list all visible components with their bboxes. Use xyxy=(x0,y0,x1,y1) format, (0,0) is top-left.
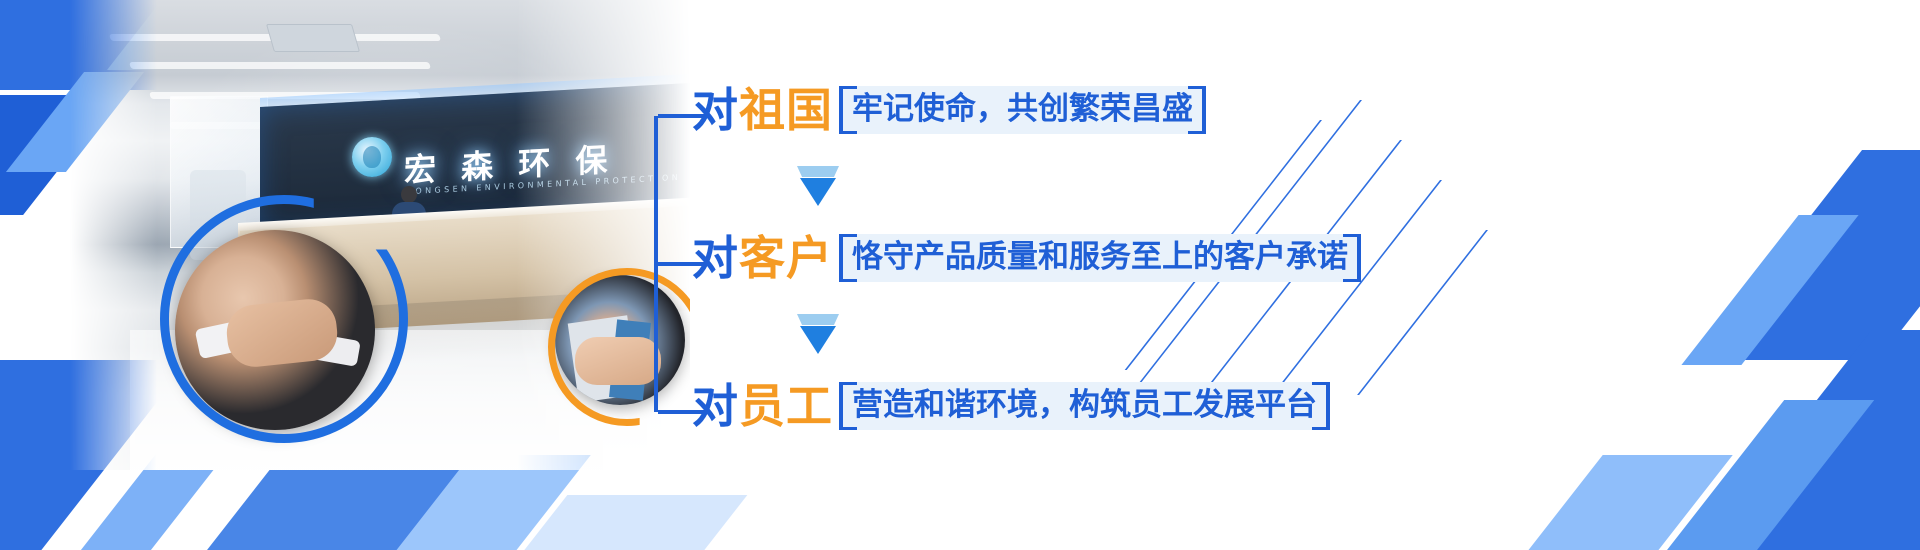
ceiling-vent xyxy=(266,24,360,52)
value-lead-highlight: 员工 xyxy=(739,379,833,433)
value-row-country: 对祖国 牢记使命，共创繁荣昌盛 xyxy=(692,86,1206,134)
value-row-employee: 对员工 营造和谐环境，构筑员工发展平台 xyxy=(692,382,1330,430)
value-lead-employee: 对员工 xyxy=(692,383,833,429)
value-lead-country: 对祖国 xyxy=(692,87,833,133)
value-lead-highlight: 客户 xyxy=(739,231,833,285)
ceiling-strip xyxy=(129,62,431,69)
value-lead-prefix: 对 xyxy=(692,83,739,137)
value-lead-highlight: 祖国 xyxy=(739,83,833,137)
photo-montage: 宏 森 环 保 HONGSEN ENVIRONMENTAL PROTECTION xyxy=(70,0,690,550)
value-row-customer: 对客户 恪守产品质量和服务至上的客户承诺 xyxy=(692,234,1361,282)
value-tag-employee: 营造和谐环境，构筑员工发展平台 xyxy=(839,382,1330,430)
company-logo-icon xyxy=(352,137,392,177)
company-values-banner: 宏 森 环 保 HONGSEN ENVIRONMENTAL PROTECTION xyxy=(0,0,1920,550)
value-tag-customer: 恪守产品质量和服务至上的客户承诺 xyxy=(839,234,1361,282)
value-lead-prefix: 对 xyxy=(692,231,739,285)
values-list: 对祖国 牢记使命，共创繁荣昌盛 对客户 恪守产品质量和服务至上的客户承诺 对员工… xyxy=(640,62,1400,482)
value-lead-customer: 对客户 xyxy=(692,235,833,281)
value-tag-country: 牢记使命，共创繁荣昌盛 xyxy=(839,86,1206,134)
value-lead-prefix: 对 xyxy=(692,379,739,433)
